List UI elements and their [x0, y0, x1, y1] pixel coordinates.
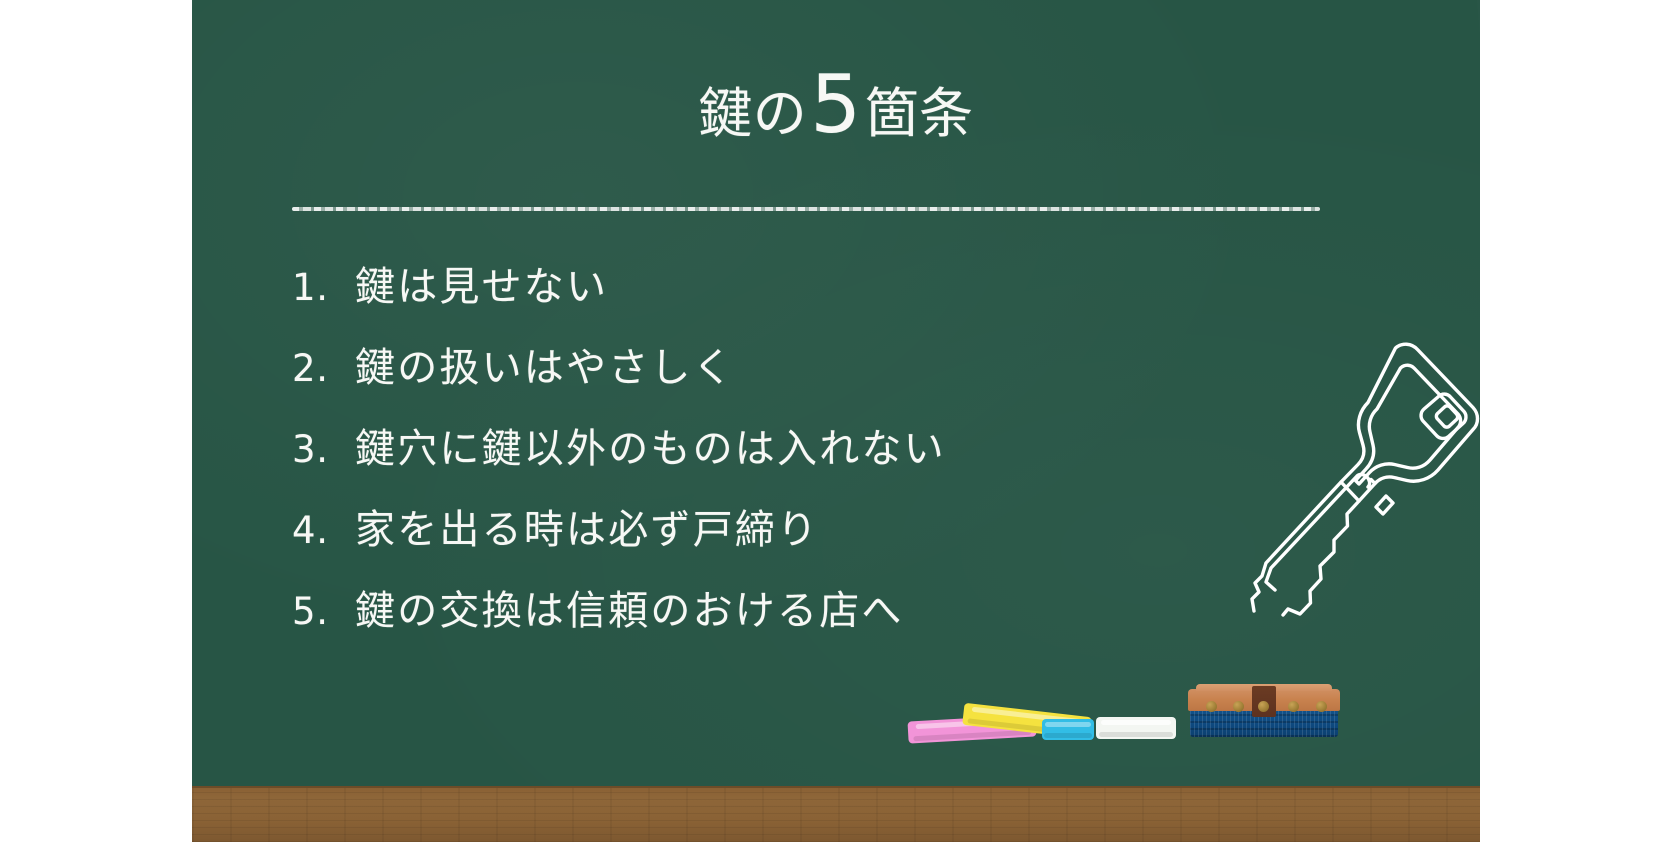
chalk-tray-ledge	[192, 786, 1480, 842]
list-item-index: 2.	[292, 347, 355, 390]
list-item-label: 鍵は見せない	[355, 254, 608, 312]
eraser-stud	[1288, 701, 1299, 712]
eraser-stud	[1258, 701, 1269, 712]
rules-list: 1. 鍵は見せない 2. 鍵の扱いはやさしく 3. 鍵穴に鍵以外のものは入れない…	[292, 254, 1192, 659]
list-item-index: 3.	[292, 428, 355, 471]
list-item-index: 4.	[292, 509, 355, 552]
key-icon-svg	[1242, 330, 1480, 630]
eraser-leather-top	[1188, 689, 1340, 711]
list-item: 1. 鍵は見せない	[292, 254, 1192, 335]
chalk-shadow	[1099, 732, 1173, 737]
chalk-white	[1096, 717, 1176, 739]
chalkboard-surface: 鍵の5箇条 1. 鍵は見せない 2. 鍵の扱いはやさしく 3. 鍵穴に鍵以外のも…	[192, 0, 1480, 786]
eraser-stud	[1316, 701, 1327, 712]
list-item-label: 鍵の扱いはやさしく	[355, 335, 735, 393]
eraser-stud	[1233, 701, 1244, 712]
chalkboard-poster: 鍵の5箇条 1. 鍵は見せない 2. 鍵の扱いはやさしく 3. 鍵穴に鍵以外のも…	[0, 0, 1670, 840]
list-item-label: 鍵穴に鍵以外のものは入れない	[355, 416, 946, 474]
list-item: 3. 鍵穴に鍵以外のものは入れない	[292, 416, 1192, 497]
list-item: 4. 家を出る時は必ず戸締り	[292, 497, 1192, 578]
chalk-highlight	[1045, 722, 1091, 727]
list-item: 5. 鍵の交換は信頼のおける店へ	[292, 578, 1192, 659]
list-item-index: 5.	[292, 590, 355, 633]
blackboard-eraser	[1188, 685, 1340, 737]
page-title: 鍵の5箇条	[192, 58, 1480, 151]
chalk-divider-line	[292, 207, 1320, 211]
eraser-stud	[1206, 701, 1217, 712]
key-icon	[1242, 330, 1480, 630]
chalk-blue	[1042, 719, 1094, 740]
list-item-label: 鍵の交換は信頼のおける店へ	[355, 578, 904, 636]
title-prefix: 鍵の	[698, 82, 807, 145]
title-number: 5	[807, 58, 864, 151]
list-item: 2. 鍵の扱いはやさしく	[292, 335, 1192, 416]
title-suffix: 箇条	[865, 82, 974, 145]
chalk-shadow	[1044, 733, 1092, 738]
chalk-highlight	[1101, 720, 1171, 725]
list-item-index: 1.	[292, 266, 355, 309]
list-item-label: 家を出る時は必ず戸締り	[355, 497, 819, 555]
